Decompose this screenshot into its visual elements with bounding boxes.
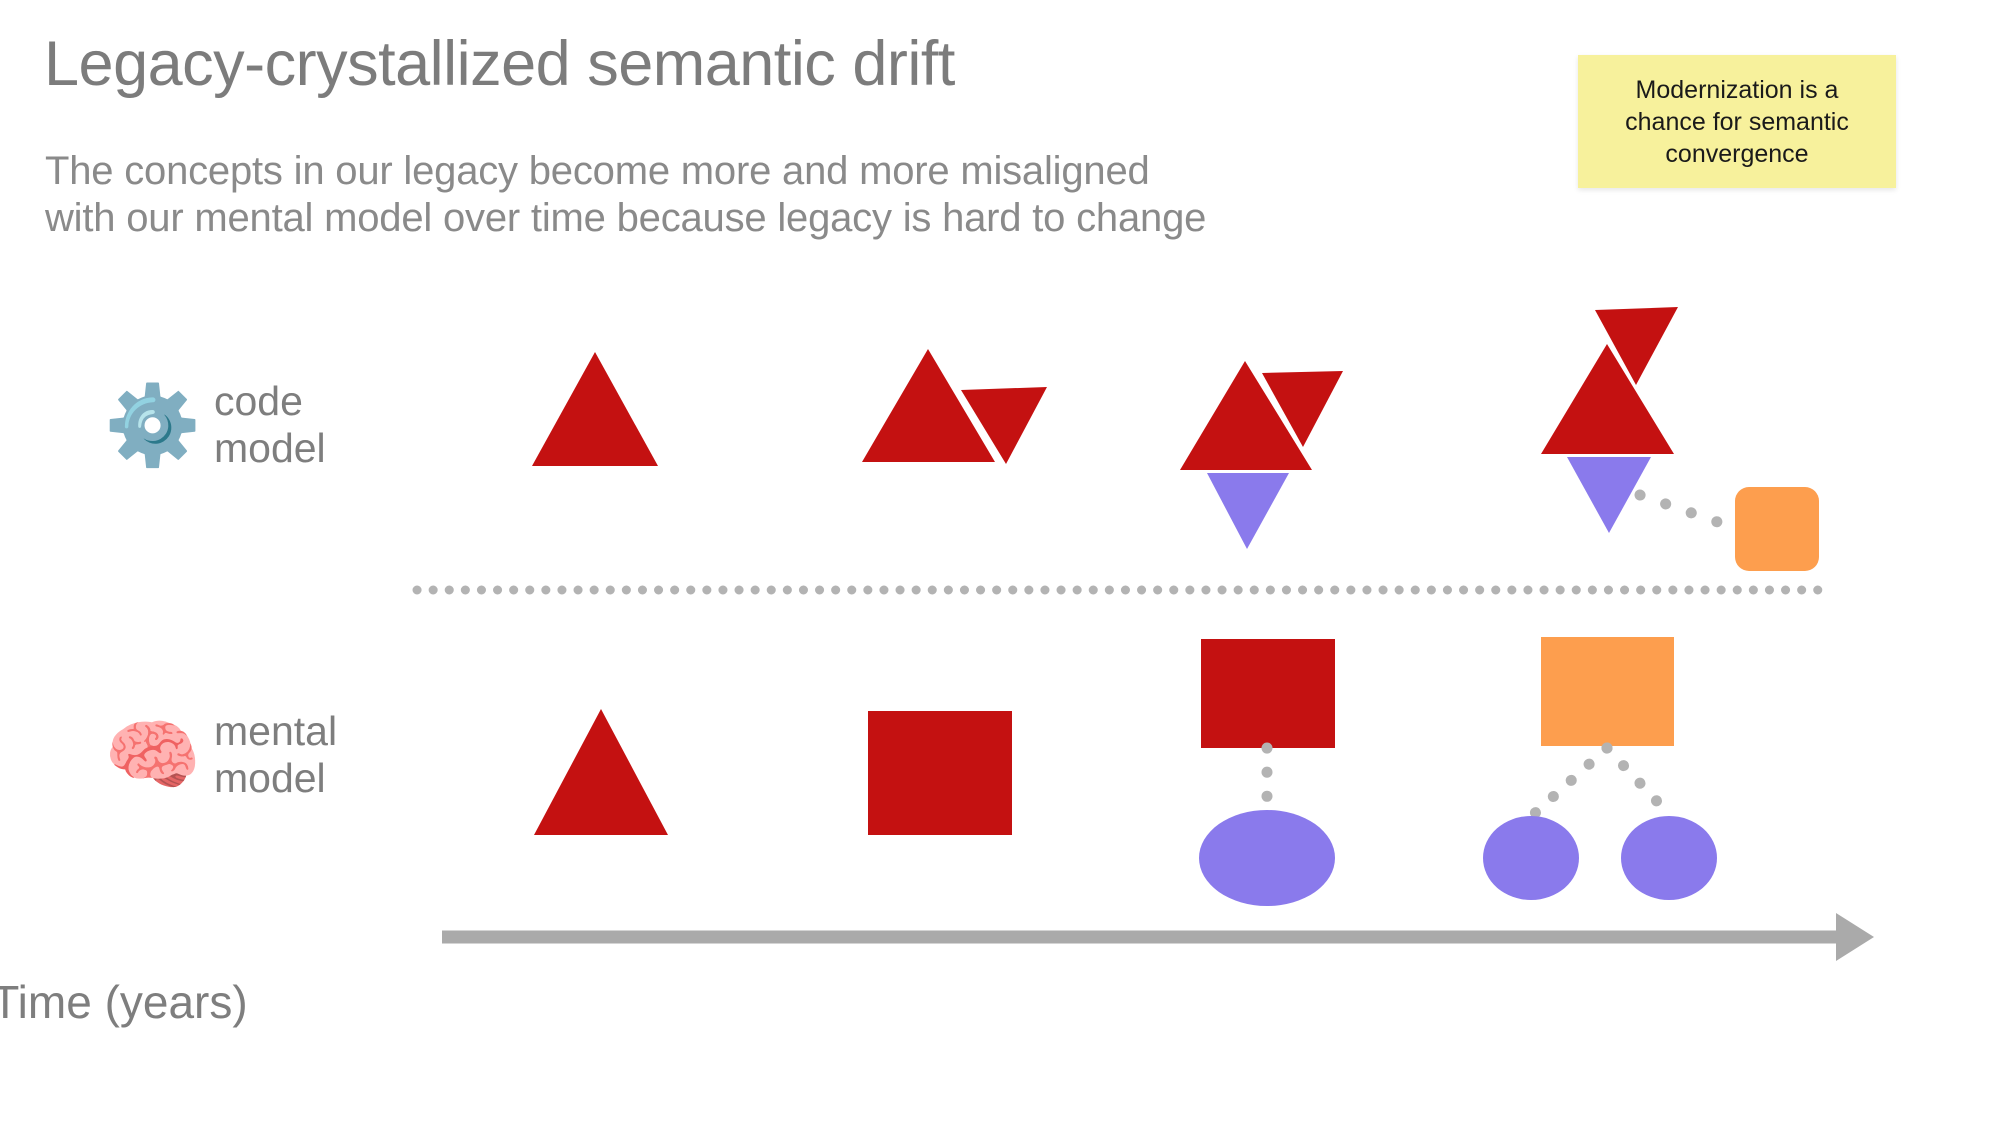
ellipse-purple-right [1621, 816, 1717, 900]
page-subtitle: The concepts in our legacy become more a… [45, 148, 1206, 242]
connector-dotted-mental-step4-right [1607, 748, 1667, 812]
mental-step2-group [868, 711, 1012, 835]
triangle-up-red [532, 352, 658, 466]
sticky-note[interactable]: Modernization is a chance for semantic c… [1578, 55, 1896, 188]
code-step2-group [862, 349, 1047, 464]
brain-icon: 🧠 [104, 716, 196, 794]
triangle-up-red [1541, 344, 1674, 454]
connector-dotted-mental-step4-left [1534, 748, 1607, 814]
connector-dotted-code-step4 [1640, 495, 1732, 527]
row-label-mental-model: 🧠 mental model [104, 708, 337, 802]
triangle-down-red [1262, 371, 1343, 447]
code-step1-group [532, 352, 658, 466]
triangle-down-red [961, 387, 1047, 464]
triangle-down-red-top [1595, 307, 1678, 385]
triangle-down-purple [1567, 457, 1651, 533]
time-axis-label-text: Time (years) [0, 975, 248, 1029]
gear-icon: ⚙️ [104, 386, 196, 464]
code-step3-group [1180, 361, 1343, 549]
mental-step4-group [1483, 637, 1717, 900]
mental-step1-group [534, 709, 668, 835]
mental-step3-group [1199, 639, 1335, 906]
ellipse-purple [1199, 810, 1335, 906]
ellipse-purple-left [1483, 816, 1579, 900]
row-label-code-model-text: code model [214, 378, 326, 472]
square-red [868, 711, 1012, 835]
rounded-square-orange [1735, 487, 1819, 571]
page-title: Legacy-crystallized semantic drift [44, 28, 955, 100]
row-label-mental-model-text: mental model [214, 708, 337, 802]
triangle-up-red [534, 709, 668, 835]
sticky-note-text: Modernization is a chance for semantic c… [1592, 74, 1882, 170]
triangle-up-red [1180, 361, 1312, 470]
code-step4-group [1541, 307, 1819, 571]
square-red [1201, 639, 1335, 748]
triangle-down-purple [1207, 473, 1289, 549]
time-axis-arrow [442, 913, 1874, 961]
triangle-up-red [862, 349, 995, 462]
square-orange [1541, 637, 1674, 746]
row-label-code-model: ⚙️ code model [104, 378, 326, 472]
time-axis-label: Time (years) [0, 975, 1999, 1029]
time-axis-arrowhead [1836, 913, 1874, 961]
